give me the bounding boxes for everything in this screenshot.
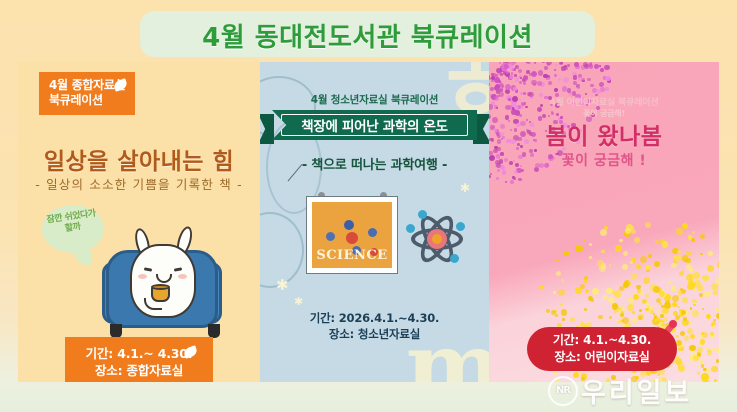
right-panel-title: 봄이 왔나봄 [489, 117, 719, 151]
science-poster-word: SCIENCE [312, 248, 392, 263]
poster-header: 4월 동대전도서관 북큐레이션 [0, 0, 737, 62]
panel-youth-reading-room: ㅎ m 4월 청소년자료실 북큐레이션 책장에 피어난 과학의 온도 - 책으로… [260, 62, 489, 382]
rabbit-cheek-right [178, 274, 187, 279]
right-panel-kicker: 4월 어린이자료실 북큐레이션 [489, 95, 719, 108]
middle-footer-place: 장소: 청소년자료실 [260, 326, 489, 342]
atom-nucleus-core [432, 234, 442, 244]
sparkle-icon: ✱ [460, 182, 470, 194]
panel-general-reading-room: 4월 종합자료실 북큐레이션 일상을 살아내는 힘 - 일상의 소소한 기쁨을 … [18, 62, 260, 382]
right-panel-subtitle: 꽃이 궁금해 ! [489, 150, 719, 170]
molecule-node [346, 232, 358, 244]
left-panel-footer: 기간: 4.1.~ 4.30. 장소: 종합자료실 [65, 337, 213, 382]
atom-icon [406, 208, 468, 270]
left-panel-title: 일상을 살아내는 힘 [18, 142, 260, 176]
coffee-cup-top [151, 284, 170, 290]
right-footer-period: 기간: 4.1.~4.30. [527, 332, 677, 349]
middle-footer-period: 기간: 2026.4.1.~4.30. [260, 310, 489, 326]
ribbon-title: 책장에 피어난 과학의 온도 [281, 114, 468, 136]
middle-panel-subtitle: - 책으로 떠나는 과학여행 - [260, 154, 489, 173]
rabbit-cheek-left [138, 274, 147, 279]
armchair-leg-left [110, 324, 122, 338]
sparkle-icon: ✱ [294, 296, 303, 307]
watermark-mark-icon: NR [548, 376, 578, 406]
atom-electron [418, 210, 427, 219]
atom-electron [406, 224, 415, 233]
right-panel-footer: 기간: 4.1.~4.30. 장소: 어린이자료실 [527, 327, 677, 371]
middle-panel-footer: 기간: 2026.4.1.~4.30. 장소: 청소년자료실 [260, 310, 489, 342]
press-watermark: NR 우리일보 [548, 371, 692, 410]
armchair-leg-right [208, 324, 220, 338]
molecule-node [326, 232, 335, 241]
watermark-text: 우리일보 [581, 371, 692, 410]
page-title: 4월 동대전도서관 북큐레이션 [140, 16, 595, 54]
atom-electron [456, 222, 465, 231]
left-panel-badge: 4월 종합자료실 북큐레이션 [39, 72, 135, 115]
left-panel-subtitle: - 일상의 소소한 기쁨을 기록한 책 - [18, 174, 260, 193]
middle-panel-kicker: 4월 청소년자료실 북큐레이션 [260, 92, 489, 107]
atom-electron [450, 254, 459, 263]
sparkle-icon: ✱ [276, 278, 289, 293]
panel-childrens-reading-room: 4월 어린이자료실 북큐레이션 꽃이 궁금해! 봄이 왔나봄 꽃이 궁금해 ! … [489, 62, 719, 382]
molecule-node [368, 228, 377, 237]
poster-canvas: 4월 동대전도서관 북큐레이션 4월 종합자료실 북큐레이션 일상을 살아내는 … [0, 0, 737, 412]
right-footer-place: 장소: 어린이자료실 [527, 349, 677, 366]
left-badge-line2: 북큐레이션 [49, 93, 125, 108]
panel-row: 4월 종합자료실 북큐레이션 일상을 살아내는 힘 - 일상의 소소한 기쁨을 … [18, 62, 719, 382]
ribbon-banner: 책장에 피어난 과학의 온도 [272, 110, 477, 140]
left-footer-place: 장소: 종합자료실 [65, 362, 213, 379]
molecule-node [344, 220, 354, 230]
